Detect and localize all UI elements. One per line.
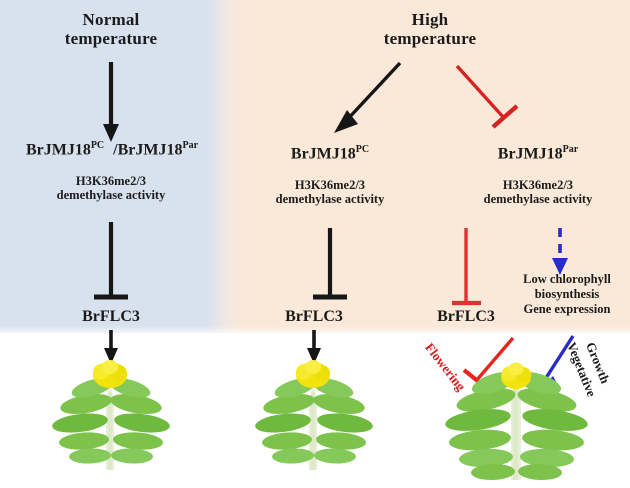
high-pc-gene-sup: PC <box>356 144 369 155</box>
high-par-target-brflc3: BrFLC3 <box>414 308 518 326</box>
normal-activity-line2: demethylase activity <box>11 188 211 202</box>
flower-head <box>296 360 330 388</box>
edge-flowering-inhibited <box>464 338 513 390</box>
edge-high-temp-to-pc-gene <box>334 63 400 133</box>
normal-gene-left-sup: PC <box>91 140 104 151</box>
edge-normal-temp-to-gene <box>103 62 119 142</box>
chlorophyll-line2: biosynthesis <box>504 287 630 302</box>
normal-target-brflc3: BrFLC3 <box>36 308 186 326</box>
edge-high-temp-inhibits-par-gene <box>457 66 517 127</box>
flower-head <box>93 360 127 388</box>
normal-header-line2: temperature <box>36 29 186 48</box>
high-pc-activity-line2: demethylase activity <box>232 192 428 206</box>
normal-activity-label: H3K36me2/3 demethylase activity <box>11 174 211 202</box>
normal-header-line1: Normal <box>36 10 186 29</box>
high-pc-gene-name: BrJMJ18 <box>291 145 356 162</box>
high-par-activity-line2: demethylase activity <box>440 192 630 206</box>
normal-gene-right-name: BrJMJ18 <box>118 141 183 158</box>
high-par-gene: BrJMJ18Par <box>458 144 618 163</box>
edge-par-gene-inhibits-flc3 <box>452 228 481 303</box>
figure-canvas: chlorophyll (blue dashed) ---- --> <box>0 0 630 488</box>
normal-activity-line1: H3K36me2/3 <box>11 174 211 188</box>
edge-normal-flc3-to-plant <box>104 330 118 364</box>
diagram-graphics: chlorophyll (blue dashed) ---- --> <box>0 0 630 488</box>
normal-gene-pair: BrJMJ18PC/BrJMJ18Par <box>0 140 224 159</box>
high-par-activity-line1: H3K36me2/3 <box>440 178 630 192</box>
low-chlorophyll-block: Low chlorophyll biosynthesis Gene expres… <box>504 272 630 316</box>
high-pc-gene: BrJMJ18PC <box>250 144 410 163</box>
edge-normal-gene-to-flc3 <box>94 222 128 297</box>
normal-gene-right-sup: Par <box>183 140 199 151</box>
high-header-line2: temperature <box>355 29 505 48</box>
flower-head <box>501 363 532 390</box>
edge-pc-flc3-to-plant <box>307 330 321 364</box>
edge-par-gene-to-chlorophyll <box>552 228 568 275</box>
high-header-line1: High <box>355 10 505 29</box>
edge-pc-gene-to-flc3 <box>313 228 347 297</box>
normal-temperature-header: Normal temperature <box>36 10 186 48</box>
normal-gene-left-name: BrJMJ18 <box>26 141 91 158</box>
high-par-activity-label: H3K36me2/3 demethylase activity <box>440 178 630 206</box>
plant-high-temperature-pc <box>254 360 374 470</box>
chlorophyll-line1: Low chlorophyll <box>504 272 630 287</box>
high-pc-activity-line1: H3K36me2/3 <box>232 178 428 192</box>
chlorophyll-line3: Gene expression <box>504 302 630 317</box>
high-par-gene-sup: Par <box>563 144 579 155</box>
high-pc-target-brflc3: BrFLC3 <box>254 308 374 326</box>
high-pc-activity-label: H3K36me2/3 demethylase activity <box>232 178 428 206</box>
plant-normal-temperature <box>51 360 171 470</box>
high-temperature-header: High temperature <box>355 10 505 48</box>
high-par-gene-name: BrJMJ18 <box>498 145 563 162</box>
